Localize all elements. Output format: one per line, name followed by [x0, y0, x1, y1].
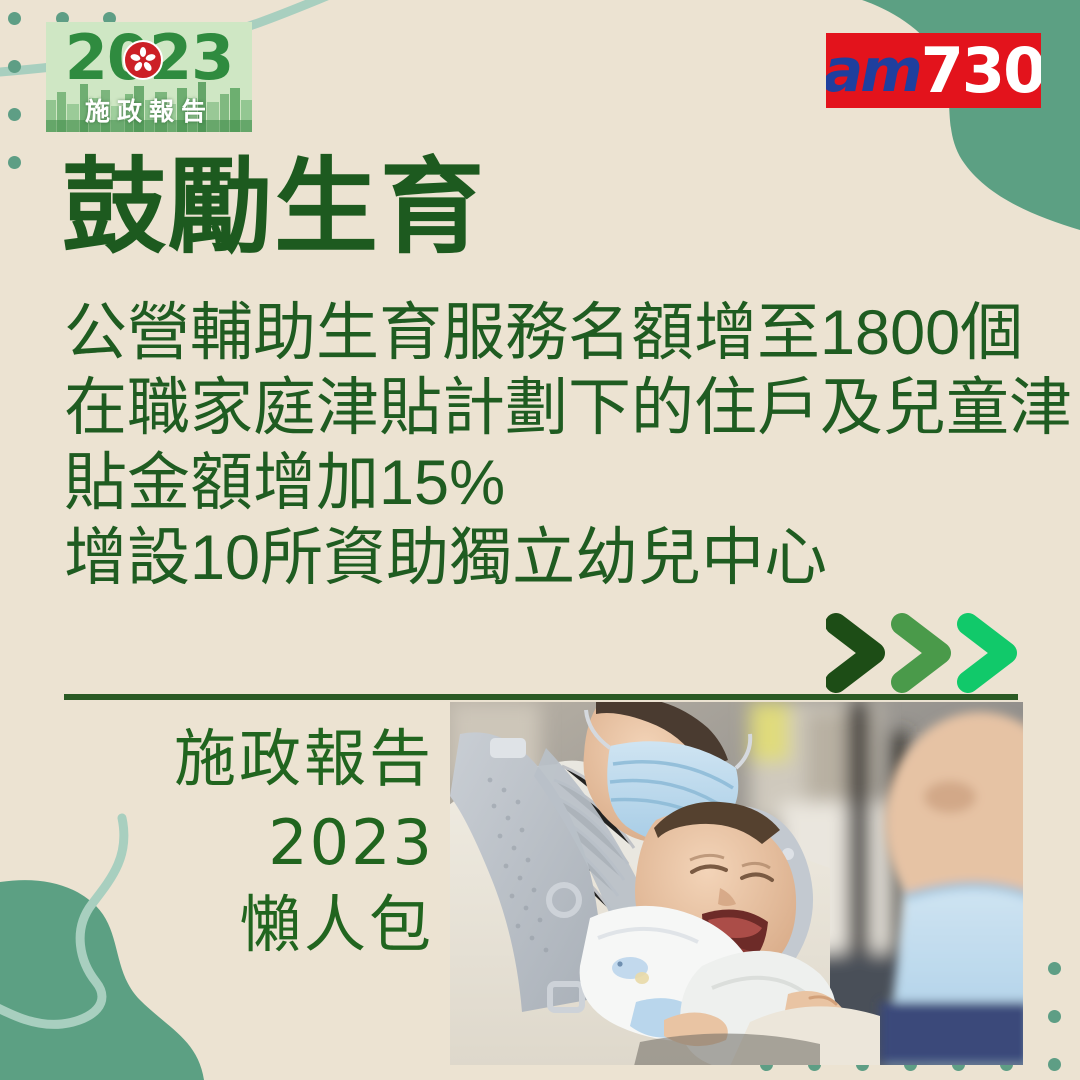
am730-prefix: am	[826, 42, 920, 100]
body-line: 公營輔助生育服務名額增至1800個	[64, 296, 1044, 371]
footer-line: 施政報告	[120, 718, 434, 801]
chevron-icon-medium	[902, 624, 940, 682]
footer-line: 2023	[120, 801, 434, 884]
footer-line: 懶人包	[120, 884, 434, 967]
body-copy: 公營輔助生育服務名額增至1800個 在職家庭津貼計劃下的住戶及兒童津 貼金額增加…	[64, 296, 1044, 596]
section-divider	[64, 694, 1018, 700]
chevron-icon-bright	[968, 624, 1006, 682]
forward-chevron-arrows	[826, 612, 1041, 694]
page-title: 鼓勵生育	[62, 152, 486, 264]
logo-subtitle: 施政報告	[46, 92, 252, 128]
am730-number: 730	[921, 42, 1041, 100]
footer-caption: 施政報告 2023 懶人包	[120, 718, 434, 967]
infographic-poster: 2023 施政報告 am730 鼓勵生育 公營輔助生育服務名額增至1800個 在…	[0, 0, 1080, 1080]
am730-logo: am730	[826, 33, 1041, 108]
decorative-dot	[8, 12, 21, 25]
decorative-dot	[1048, 962, 1061, 975]
chevron-icon-dark	[836, 624, 874, 682]
body-line: 增設10所資助獨立幼兒中心	[64, 521, 1044, 596]
bottom-left-blob-line	[0, 818, 124, 1024]
hong-kong-bauhinia-emblem	[123, 40, 163, 80]
body-line: 在職家庭津貼計劃下的住戶及兒童津	[64, 371, 1044, 446]
policy-address-2023-logo: 2023 施政報告	[46, 22, 252, 132]
decorative-dot	[8, 60, 21, 73]
photo-mother-and-baby	[450, 702, 1023, 1065]
decorative-dot	[1048, 1010, 1061, 1023]
body-line: 貼金額增加15%	[64, 446, 1044, 521]
decorative-dot	[8, 108, 21, 121]
decorative-dot	[8, 156, 21, 169]
decorative-dot	[1048, 1058, 1061, 1071]
